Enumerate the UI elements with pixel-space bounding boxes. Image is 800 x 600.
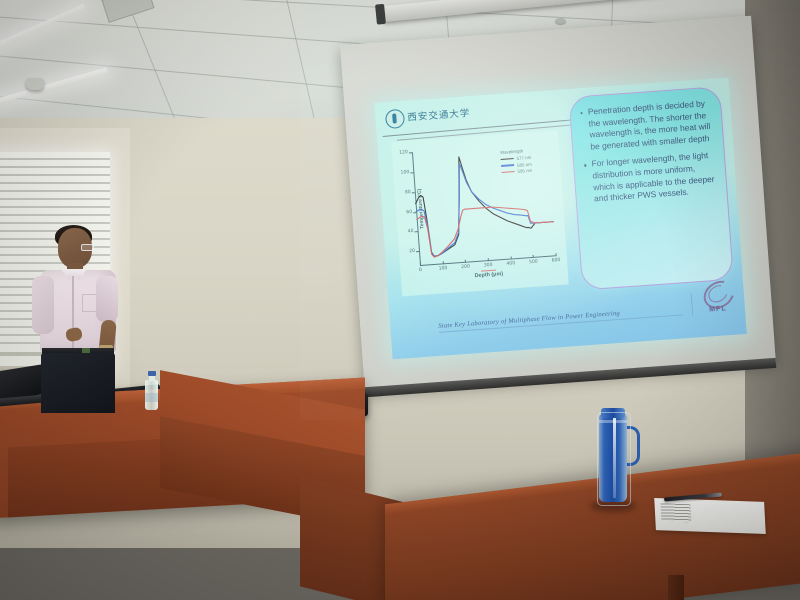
bullet-text: Penetration depth is decided by the wave…	[588, 98, 716, 153]
blue-travel-mug	[597, 408, 631, 506]
x-tick-label: 300	[484, 263, 493, 269]
y-tick-label: 60	[406, 209, 412, 214]
x-tick-label: 500	[529, 260, 538, 266]
presenter-trousers	[41, 353, 115, 413]
presenter	[28, 228, 136, 413]
legend-swatch	[501, 164, 514, 167]
x-tick-label: 400	[506, 261, 515, 267]
bullet-item: For longer wavelength, the light distrib…	[584, 150, 719, 206]
mfl-logo-text: MFL	[701, 305, 735, 314]
bullet-dot-icon	[584, 164, 587, 167]
eyeglasses-icon	[81, 244, 94, 251]
ceiling-light	[0, 4, 86, 57]
bullet-dot-icon	[580, 112, 583, 115]
university-name: 西安交通大学	[407, 105, 471, 123]
y-tick-label: 80	[405, 190, 411, 195]
sheet-of-paper	[654, 498, 766, 534]
smoke-detector-icon	[555, 18, 566, 24]
mfl-logo: MFL	[699, 281, 735, 313]
chart-plot-area: 20 40 60 80 100 120 0 100	[412, 143, 556, 266]
bullet-text: For longer wavelength, the light distrib…	[591, 150, 719, 205]
chart-panel: 20 40 60 80 100 120 0 100	[391, 130, 569, 297]
legend-label: 577 nm	[516, 155, 531, 161]
conference-room-photo: 西安交通大学 20 40 60 80 100	[0, 0, 800, 600]
projection-screen: 西安交通大学 20 40 60 80 100	[340, 16, 776, 393]
bullet-item: Penetration depth is decided by the wave…	[580, 98, 715, 154]
ceiling-vent	[101, 0, 154, 23]
presentation-slide: 西安交通大学 20 40 60 80 100	[374, 77, 746, 359]
university-emblem-icon	[385, 109, 405, 129]
chart-legend: Wavelength 577 nm 585 nm 595 nm	[500, 147, 548, 177]
water-bottle	[145, 370, 158, 410]
bullet-callout: Penetration depth is decided by the wave…	[568, 86, 733, 290]
x-tick-label: 600	[551, 258, 560, 264]
legend-label: 585 nm	[517, 161, 532, 167]
legend-swatch	[502, 171, 515, 174]
y-tick-label: 40	[408, 229, 414, 234]
front-table-leg	[668, 575, 684, 600]
slide-footer-separator	[691, 294, 694, 316]
legend-item: 595 nm	[501, 167, 547, 175]
x-tick-label: 100	[438, 266, 447, 272]
x-axis-label: Depth (μm)	[475, 271, 504, 279]
legend-swatch	[501, 158, 514, 161]
y-tick-label: 20	[409, 249, 415, 254]
legend-label: 595 nm	[517, 168, 532, 174]
y-tick-label: 120	[399, 150, 408, 156]
x-tick-label: 200	[461, 264, 470, 270]
x-tick-label: 0	[419, 268, 422, 273]
y-tick-label: 100	[400, 170, 409, 176]
ceiling-speaker	[26, 78, 44, 90]
